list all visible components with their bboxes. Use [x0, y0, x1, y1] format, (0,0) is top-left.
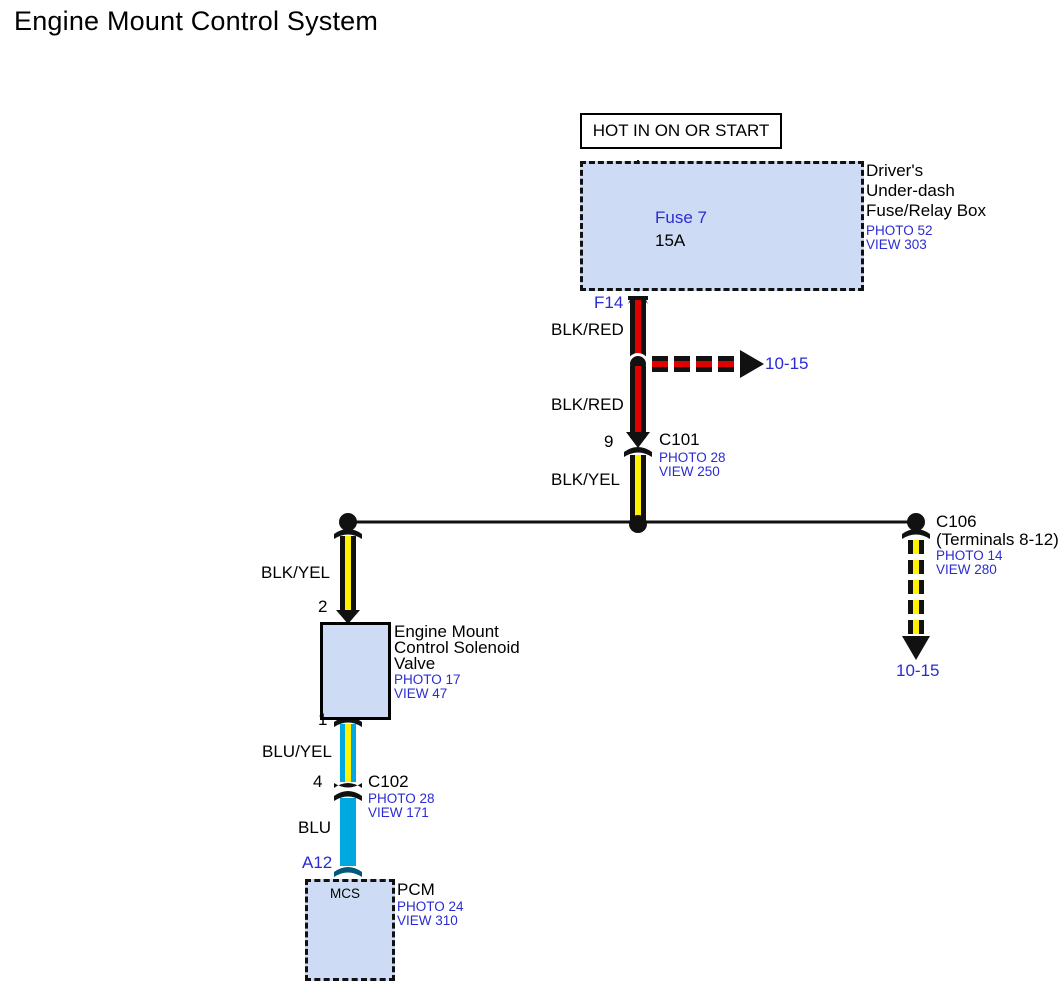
wiring-diagram-canvas	[0, 0, 1062, 975]
wire-label-blk-red-lower: BLK/RED	[551, 395, 624, 415]
connector-c102-view-ref[interactable]: VIEW 171	[368, 805, 429, 820]
terminal-c102-pin: 4	[313, 772, 322, 792]
terminal-a12-label: A12	[302, 853, 332, 873]
wire-label-blu-yel: BLU/YEL	[262, 742, 332, 762]
wire-blk-yel-to-solenoid	[334, 529, 362, 624]
page-ref-10-15-down[interactable]: 10-15	[896, 661, 939, 681]
wire-blk-yel-c101-to-bus	[630, 455, 646, 522]
wire-blu-yel	[334, 717, 362, 782]
pcm-inner-label: MCS	[330, 886, 360, 902]
pcm-name-label: PCM	[397, 880, 435, 900]
connector-c106-photo-ref[interactable]: PHOTO 14	[936, 548, 1003, 563]
solenoid-view-ref[interactable]: VIEW 47	[394, 686, 447, 701]
solenoid-photo-ref[interactable]: PHOTO 17	[394, 672, 461, 687]
wire-blu	[334, 798, 362, 877]
wire-label-blk-red-upper: BLK/RED	[551, 320, 624, 340]
fuse-rating-label: 15A	[655, 231, 685, 251]
page-title: Engine Mount Control System	[14, 6, 378, 38]
connector-c106-view-ref[interactable]: VIEW 280	[936, 562, 997, 577]
pcm-photo-ref[interactable]: PHOTO 24	[397, 899, 464, 914]
fuse-box-view-ref[interactable]: VIEW 303	[866, 237, 927, 252]
wire-blk-red-branch-dashed	[652, 350, 764, 378]
wire-label-blk-yel-solenoid: BLK/YEL	[261, 563, 330, 583]
fuse-box-photo-ref[interactable]: PHOTO 52	[866, 223, 933, 238]
fuse-box-name-line1: Driver's	[866, 161, 923, 181]
wire-label-blk-yel-c101: BLK/YEL	[551, 470, 620, 490]
terminal-solenoid-pin-1: 1	[318, 710, 327, 730]
terminal-c101-pin: 9	[604, 432, 613, 452]
wire-blk-red-upper	[628, 296, 648, 362]
connector-c101-photo-ref[interactable]: PHOTO 28	[659, 450, 726, 465]
fuse-box-name-line3: Fuse/Relay Box	[866, 201, 986, 221]
connector-c101-view-ref[interactable]: VIEW 250	[659, 464, 720, 479]
connector-c102-label: C102	[368, 772, 409, 792]
wire-blk-red-lower	[626, 366, 650, 448]
connector-c102-photo-ref[interactable]: PHOTO 28	[368, 791, 435, 806]
terminal-solenoid-pin-2: 2	[318, 597, 327, 617]
page-ref-10-15-right[interactable]: 10-15	[765, 354, 808, 374]
terminal-f14-label: F14	[594, 293, 623, 313]
pcm-view-ref[interactable]: VIEW 310	[397, 913, 458, 928]
hot-in-on-or-start-label: HOT IN ON OR START	[593, 121, 770, 141]
fuse-relay-box	[580, 161, 864, 291]
wire-blk-yel-c106-dashed	[902, 529, 930, 660]
connector-c101-label: C101	[659, 430, 700, 450]
fuse-box-name-line2: Under-dash	[866, 181, 955, 201]
wire-label-blu: BLU	[298, 818, 331, 838]
solenoid-valve-box	[320, 622, 391, 720]
hot-in-on-or-start-box: HOT IN ON OR START	[580, 113, 782, 149]
fuse-name-label: Fuse 7	[655, 208, 707, 228]
